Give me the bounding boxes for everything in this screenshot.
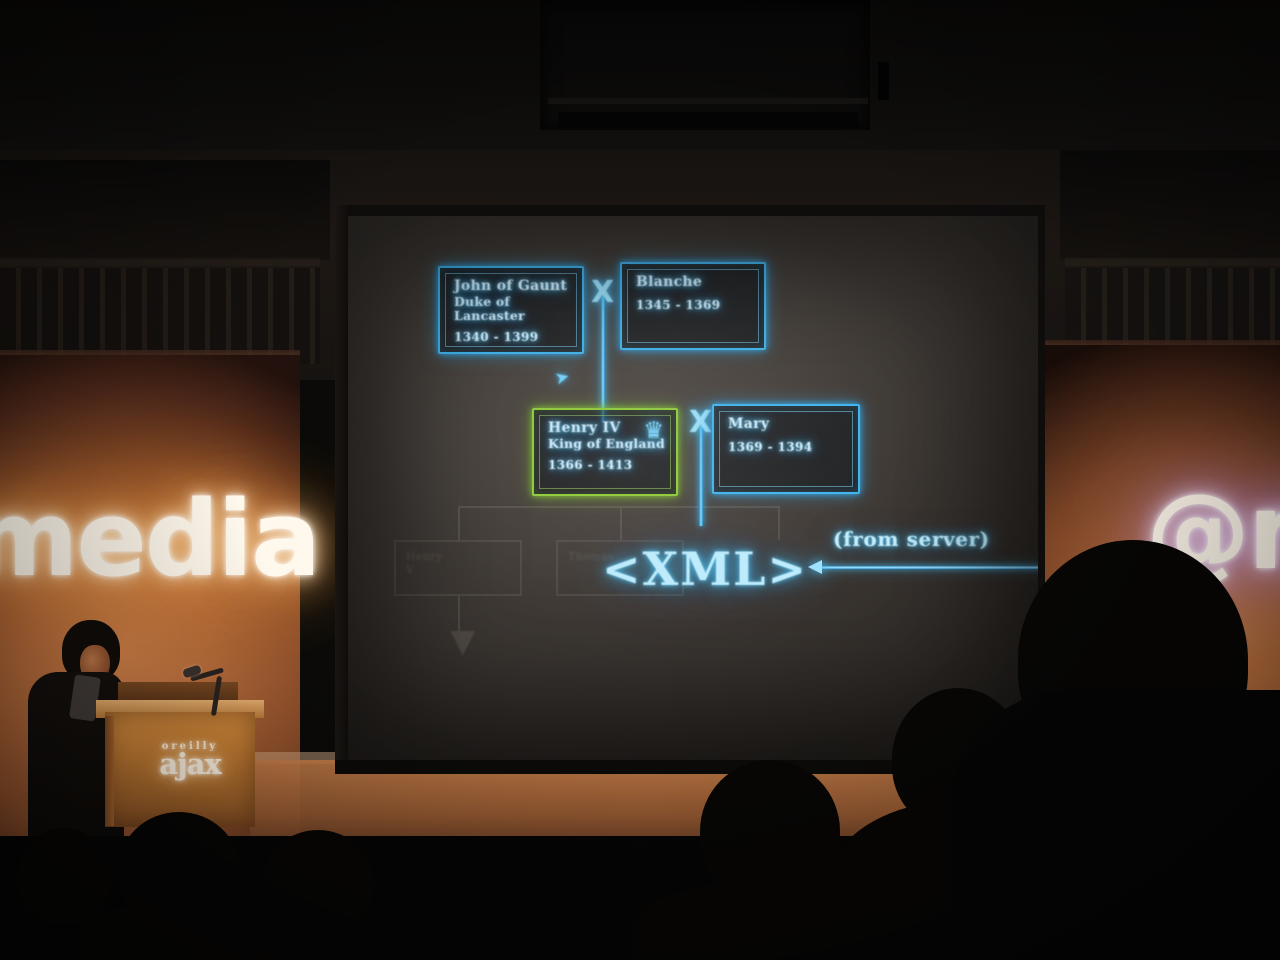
node-text: John of Gaunt Duke of Lancaster 1340 - 1… <box>454 279 572 344</box>
faded-down-arrow: ▼ <box>442 620 484 662</box>
crown-icon: ♛ <box>643 419 664 442</box>
faded-label-1: Henry V <box>406 550 443 576</box>
from-server-label: (from server) <box>833 529 990 549</box>
podium-logo-main: ajax <box>159 747 220 781</box>
podium-logo: oreilly ajax <box>142 742 238 800</box>
venue-sign-media: media <box>0 487 319 591</box>
right-railing-top <box>1065 258 1280 266</box>
ceiling-beam <box>558 112 858 128</box>
node-john-of-gaunt[interactable]: John of Gaunt Duke of Lancaster 1340 - 1… <box>438 266 584 354</box>
pointer-cursor-icon: ➤ <box>553 368 571 388</box>
node-henry-iv[interactable]: Henry IV King of England 1366 - 1413 ♛ <box>532 408 678 496</box>
node-text: Blanche 1345 - 1369 <box>636 275 754 312</box>
marriage-x-bottom: X <box>689 408 712 438</box>
audience-foreground <box>950 690 1280 960</box>
node-text: Mary 1369 - 1394 <box>728 417 848 454</box>
podium-edge <box>105 716 114 826</box>
server-arrow-line <box>820 566 1038 569</box>
right-beam <box>1060 150 1280 260</box>
node-dates: 1345 - 1369 <box>636 298 754 312</box>
ceiling-lip <box>548 98 868 104</box>
ceiling-strut <box>878 62 889 100</box>
node-name: John of Gaunt <box>454 279 572 295</box>
node-name: Mary <box>728 417 848 433</box>
xml-label: <XML> <box>602 546 808 592</box>
left-beam <box>0 160 330 260</box>
node-subtitle: Duke of Lancaster <box>454 295 572 323</box>
audience-head <box>18 828 110 924</box>
connector-line-parents <box>601 294 605 422</box>
server-arrow-head <box>808 560 822 574</box>
marriage-x-top: X <box>591 278 614 308</box>
node-blanche[interactable]: Blanche 1345 - 1369 <box>620 262 766 350</box>
node-dates: 1366 - 1413 <box>548 458 666 472</box>
left-railing-top <box>0 258 320 266</box>
projection-screen: Henry V Thomas ▼ X X John of Gaunt Duke … <box>348 216 1038 761</box>
photo-scene: media @m Henry V Thomas ▼ X X John of G <box>0 0 1280 960</box>
node-name: Blanche <box>636 275 754 291</box>
node-dates: 1369 - 1394 <box>728 440 848 454</box>
node-mary[interactable]: Mary 1369 - 1394 <box>712 404 860 494</box>
connector-line-mary <box>699 426 703 526</box>
node-dates: 1340 - 1399 <box>454 330 572 344</box>
ceiling-panel <box>540 0 870 130</box>
